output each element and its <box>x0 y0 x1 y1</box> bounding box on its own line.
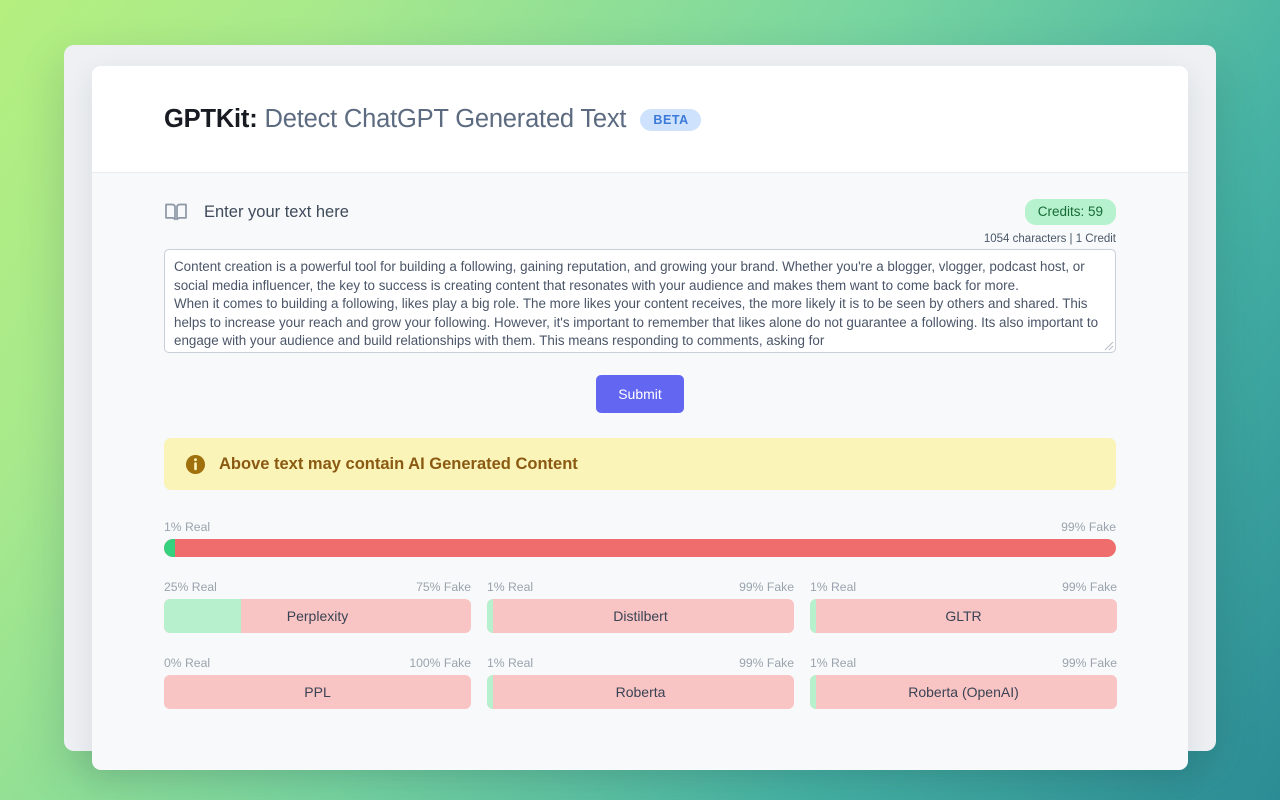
overall-meter-real-fill <box>164 539 175 557</box>
alert-banner: Above text may contain AI Generated Cont… <box>164 438 1116 490</box>
detector-meter-perplexity: 25% Real75% FakePerplexity <box>164 580 471 633</box>
app-header: GPTKit: Detect ChatGPT Generated Text BE… <box>92 66 1188 173</box>
detector-fake-label: 99% Fake <box>1062 656 1117 670</box>
detector-real-label: 1% Real <box>487 580 533 594</box>
page-title: GPTKit: Detect ChatGPT Generated Text BE… <box>164 105 701 134</box>
detector-meter-roberta-openai: 1% Real99% FakeRoberta (OpenAI) <box>810 656 1117 709</box>
detector-meter-gltr: 1% Real99% FakeGLTR <box>810 580 1117 633</box>
character-count: 1054 characters | 1 Credit <box>164 233 1116 245</box>
detector-meter-grid-row-2: 0% Real100% FakePPL1% Real99% FakeRobert… <box>164 656 1116 709</box>
detector-real-label: 25% Real <box>164 580 217 594</box>
submit-button[interactable]: Submit <box>596 375 684 413</box>
detector-meter-track: Distilbert <box>487 599 794 633</box>
input-header-row: Enter your text here Credits: 59 <box>164 173 1116 225</box>
detector-fake-label: 99% Fake <box>1062 580 1117 594</box>
detector-meter-track: Perplexity <box>164 599 471 633</box>
input-label: Enter your text here <box>204 203 349 222</box>
detector-meter-ppl: 0% Real100% FakePPL <box>164 656 471 709</box>
detector-fake-label: 100% Fake <box>409 656 471 670</box>
detector-meter-captions: 1% Real99% Fake <box>487 656 794 670</box>
detector-meter-captions: 0% Real100% Fake <box>164 656 471 670</box>
detector-meter-track: Roberta (OpenAI) <box>810 675 1117 709</box>
detector-fake-label: 99% Fake <box>739 580 794 594</box>
detector-meter-name: PPL <box>164 675 471 709</box>
detector-meter-track: Roberta <box>487 675 794 709</box>
detector-meter-captions: 1% Real99% Fake <box>487 580 794 594</box>
credits-badge: Credits: 59 <box>1025 199 1116 225</box>
detector-meter-captions: 1% Real99% Fake <box>810 580 1117 594</box>
detector-meter-captions: 25% Real75% Fake <box>164 580 471 594</box>
detector-meter-name: Roberta (OpenAI) <box>810 675 1117 709</box>
detector-meter-track: PPL <box>164 675 471 709</box>
overall-fake-label: 99% Fake <box>1061 520 1116 534</box>
detector-meter-name: GLTR <box>810 599 1117 633</box>
page-subtitle: Detect ChatGPT Generated Text <box>265 105 627 134</box>
detector-fake-label: 75% Fake <box>416 580 471 594</box>
detector-meter-name: Roberta <box>487 675 794 709</box>
beta-badge: BETA <box>640 109 701 131</box>
textarea-wrapper <box>164 249 1116 353</box>
detector-real-label: 1% Real <box>810 580 856 594</box>
app-window: GPTKit: Detect ChatGPT Generated Text BE… <box>64 45 1216 751</box>
detector-meter-roberta: 1% Real99% FakeRoberta <box>487 656 794 709</box>
detector-real-label: 0% Real <box>164 656 210 670</box>
detector-meter-grid-row-1: 25% Real75% FakePerplexity1% Real99% Fak… <box>164 580 1116 633</box>
alert-message: Above text may contain AI Generated Cont… <box>219 455 578 474</box>
detector-fake-label: 99% Fake <box>739 656 794 670</box>
detector-meter-name: Perplexity <box>164 599 471 633</box>
submit-row: Submit <box>164 375 1116 413</box>
brand-name: GPTKit: <box>164 105 258 134</box>
book-icon <box>164 200 188 224</box>
app-body: Enter your text here Credits: 59 1054 ch… <box>92 173 1188 709</box>
detector-meter-name: Distilbert <box>487 599 794 633</box>
detector-meter-track: GLTR <box>810 599 1117 633</box>
overall-real-label: 1% Real <box>164 520 210 534</box>
detector-meter-distilbert: 1% Real99% FakeDistilbert <box>487 580 794 633</box>
overall-meter: 1% Real 99% Fake <box>164 520 1116 557</box>
detector-meter-captions: 1% Real99% Fake <box>810 656 1117 670</box>
text-input[interactable] <box>164 249 1116 353</box>
detector-real-label: 1% Real <box>487 656 533 670</box>
info-icon <box>185 454 206 475</box>
app-card: GPTKit: Detect ChatGPT Generated Text BE… <box>92 66 1188 770</box>
detector-real-label: 1% Real <box>810 656 856 670</box>
overall-meter-track <box>164 539 1116 557</box>
overall-meter-captions: 1% Real 99% Fake <box>164 520 1116 534</box>
